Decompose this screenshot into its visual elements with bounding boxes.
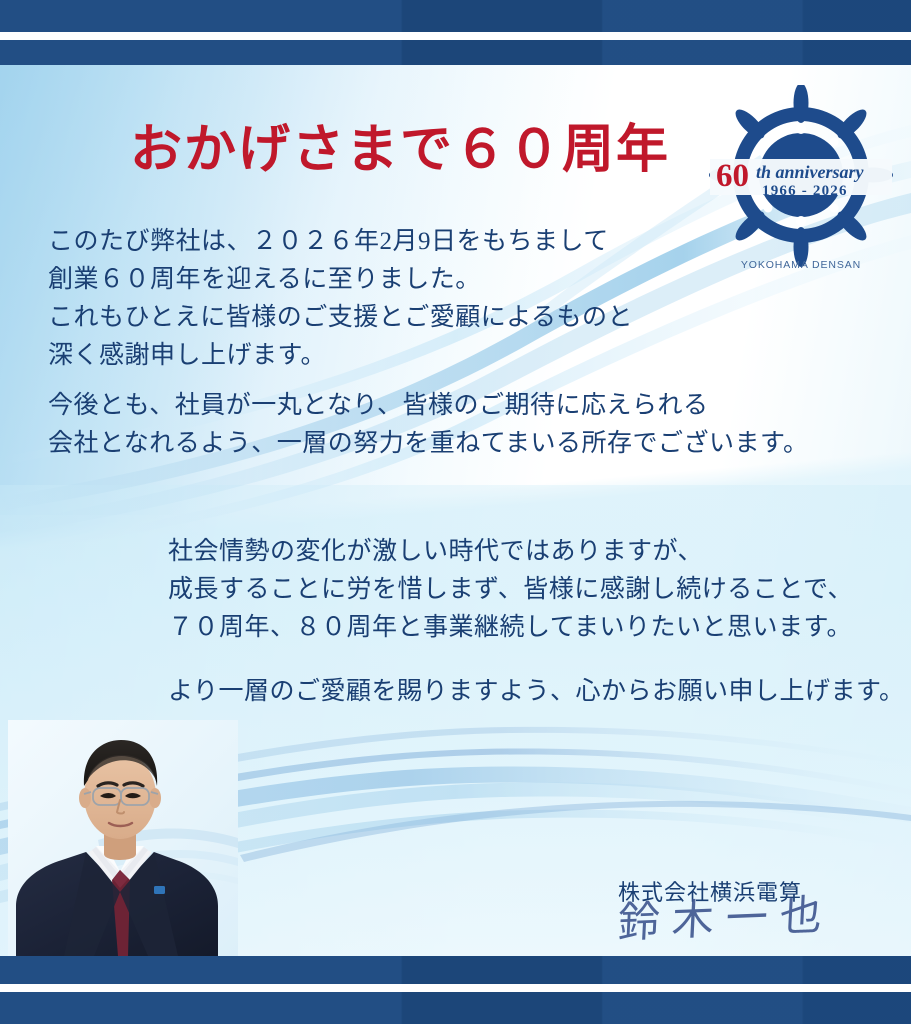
handwritten-signature: 鈴木一也 — [595, 880, 858, 951]
bottom-border-bar-outer — [0, 992, 911, 1024]
page-title: おかげさまで６０周年 — [130, 107, 670, 182]
logo-years: 1966 - 2026 — [762, 183, 848, 199]
top-border-bar-outer — [0, 0, 911, 32]
president-portrait-photo — [8, 720, 238, 956]
top-border-bar-inner — [0, 40, 911, 65]
greeting-paragraph-2: 今後とも、社員が一丸となり、皆様のご期待に応えられる 会社となれるよう、一層の努… — [48, 387, 809, 463]
anniversary-logo: 60 th anniversary 1966 - 2026 YOKOHAMA D… — [706, 85, 896, 275]
anniversary-card: おかげさまで６０周年 — [0, 0, 911, 1024]
greeting-paragraph-3: 社会情勢の変化が激しい時代ではありますが、 成長することに労を惜しまず、皆様に感… — [168, 533, 853, 647]
greeting-paragraph-1: このたび弊社は、２０２６年2月9日をもちまして 創業６０周年を迎えるに至りました… — [48, 223, 633, 375]
bottom-border-bar-inner — [0, 956, 911, 984]
greeting-paragraph-4: より一層のご愛顧を賜りますよう、心からお願い申し上げます。 — [168, 673, 905, 711]
logo-suffix: th anniversary — [756, 162, 865, 182]
card-canvas: おかげさまで６０周年 — [0, 65, 911, 956]
logo-company-mark: YOKOHAMA DENSAN — [741, 259, 861, 271]
logo-number: 60 — [716, 158, 749, 194]
